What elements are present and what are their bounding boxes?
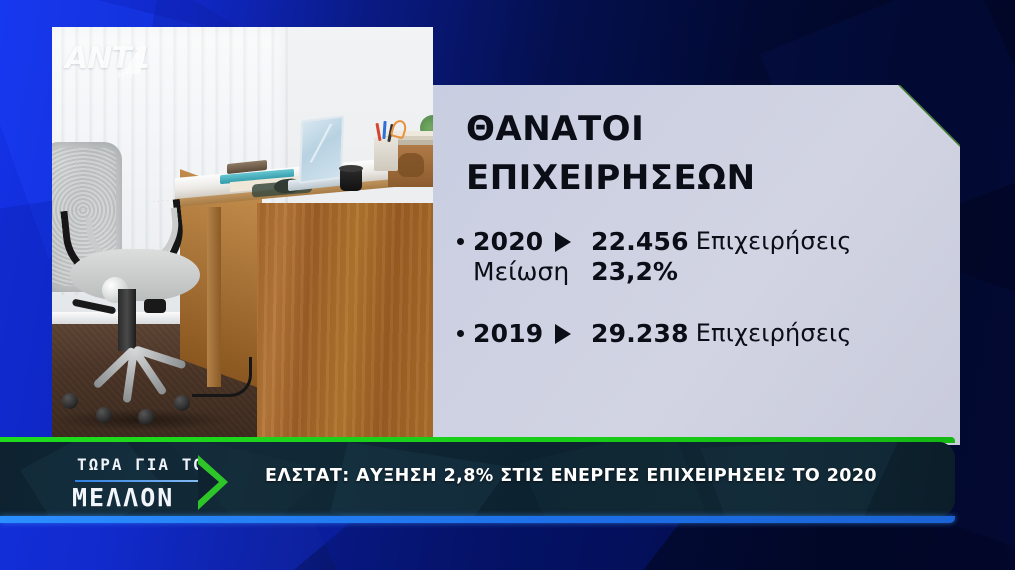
stat-year: 2019 — [473, 317, 549, 350]
office-photo: ANT1 HD — [52, 27, 433, 445]
stat-row-2020: 2020 22.456 Επιχειρήσεις — [457, 225, 937, 258]
stat-sub-label: Μείωση — [473, 256, 569, 288]
stat-unit: Επιχειρήσεις — [696, 225, 852, 258]
list-spacer — [457, 288, 937, 317]
play-triangle-icon — [555, 232, 571, 252]
ant1-one-glyph — [123, 40, 144, 74]
ticker-bottom-accent-line — [0, 516, 955, 523]
office-chair-post — [118, 289, 136, 351]
show-logo-bottom-text: ΜΕΛΛΟΝ — [72, 483, 174, 512]
page-title-line1: ΘΑΝΑΤΟΙ — [466, 109, 644, 149]
ant1-watermark-logo: ANT1 HD — [65, 44, 175, 88]
pen-holder — [374, 137, 398, 171]
laptop-screen — [299, 115, 344, 184]
chair-caster — [96, 407, 112, 423]
chair-caster — [62, 393, 78, 409]
stat-sub-value: 23,2% — [591, 256, 678, 288]
list-item: 2020 22.456 Επιχειρήσεις Μείωση 23,2% — [457, 225, 937, 288]
page-title: ΘΑΝΑΤΟΙ ΕΠΙΧΕΙΡΗΣΕΩΝ — [466, 105, 926, 203]
bullet-dot-icon — [457, 330, 464, 337]
show-logo-rule — [75, 480, 215, 482]
stat-value: 22.456 — [591, 225, 689, 258]
show-logo: ΤΩΡΑ ΓΙΑ ΤΟ ΜΕΛΛΟΝ — [72, 455, 247, 513]
stat-unit: Επιχειρήσεις — [696, 317, 852, 350]
bullet-dot-icon — [457, 238, 464, 245]
statistics-list: 2020 22.456 Επιχειρήσεις Μείωση 23,2% 20… — [457, 225, 937, 350]
office-chair-lever — [144, 299, 166, 313]
play-triangle-icon — [555, 324, 571, 344]
info-panel: ΘΑΝΑΤΟΙ ΕΠΙΧΕΙΡΗΣΕΩΝ 2020 22.456 Επιχειρ… — [433, 85, 960, 445]
chair-caster — [174, 395, 190, 411]
list-item: 2019 29.238 Επιχειρήσεις — [457, 317, 937, 350]
ticker-headline: ΕΛΣΤΑΤ: ΑΥΞΗΣΗ 2,8% ΣΤΙΣ ΕΝΕΡΓΕΣ ΕΠΙΧΕΙΡ… — [265, 466, 885, 486]
coffee-cup — [340, 168, 362, 191]
stat-value: 29.238 — [591, 317, 689, 350]
chair-caster — [138, 409, 154, 425]
ant1-watermark-subtext: HD — [117, 71, 175, 81]
show-logo-chevron-icon — [198, 455, 246, 510]
box-ornament — [398, 153, 424, 177]
stat-subrow-2020: Μείωση 23,2% — [473, 256, 937, 288]
ant1-watermark-text: ANT1 — [65, 44, 175, 74]
power-cord — [192, 357, 252, 397]
page-title-line2: ΕΠΙΧΕΙΡΗΣΕΩΝ — [466, 154, 926, 203]
stat-year: 2020 — [473, 225, 549, 258]
chevron-inner — [198, 464, 219, 501]
desk-front-panel — [257, 203, 433, 445]
stat-row-2019: 2019 29.238 Επιχειρήσεις — [457, 317, 937, 350]
